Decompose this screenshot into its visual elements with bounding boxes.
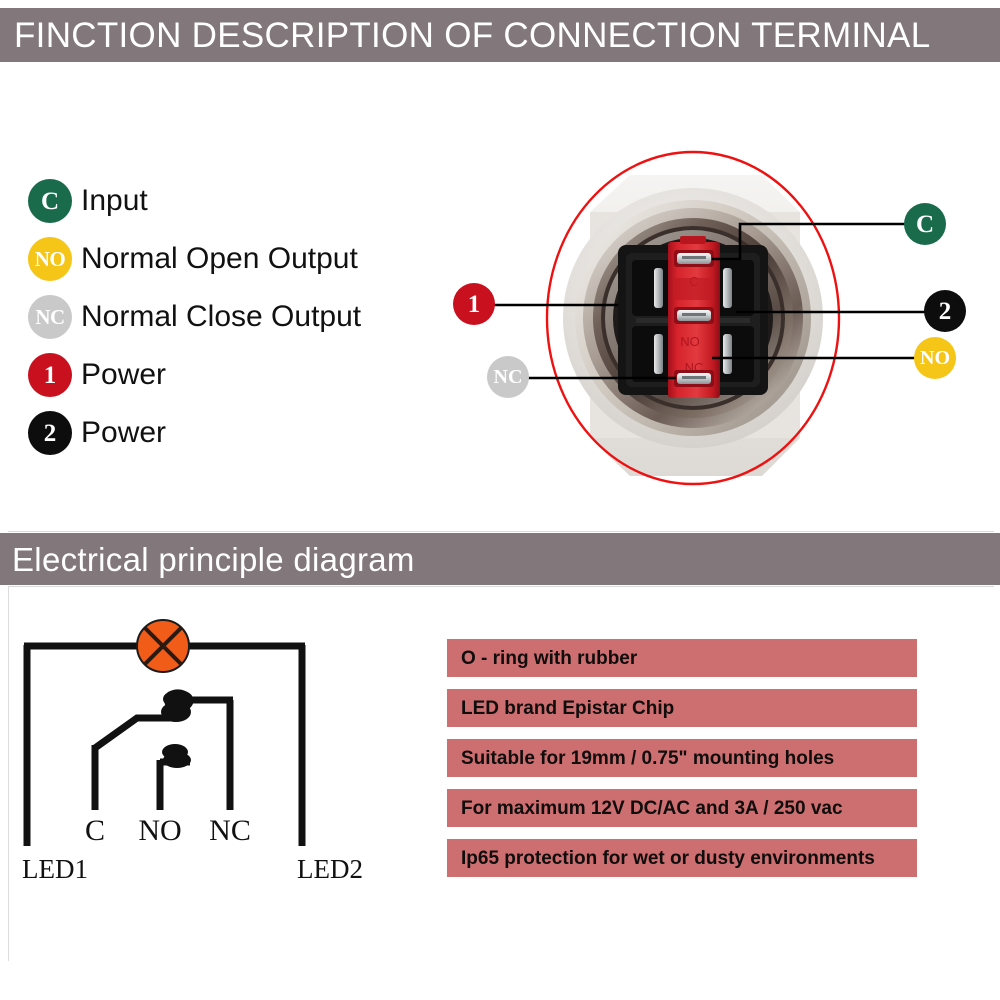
- badge-c-icon: C: [28, 179, 72, 223]
- legend-item-nc: NC Normal Close Output: [28, 288, 428, 346]
- page-header-bar: FINCTION DESCRIPTION OF CONNECTION TERMI…: [0, 8, 1000, 62]
- led-label-2: LED2: [297, 854, 363, 884]
- badge-no-icon: NO: [28, 237, 72, 281]
- legend-label-nc: Normal Close Output: [81, 302, 361, 332]
- feature-text-3: For maximum 12V DC/AC and 3A / 250 vac: [461, 799, 843, 818]
- feature-row-0: O - ring with rubber: [447, 639, 917, 677]
- feature-text-1: LED brand Epistar Chip: [461, 699, 674, 718]
- section-header-bar: Electrical principle diagram: [0, 533, 1000, 585]
- legend-label-2: Power: [81, 418, 166, 448]
- legend-item-2: 2 Power: [28, 404, 428, 462]
- legend-label-1: Power: [81, 360, 166, 390]
- callout-badge-1: 1: [453, 283, 495, 325]
- feature-text-2: Suitable for 19mm / 0.75" mounting holes: [461, 749, 834, 768]
- circuit-schematic: C NO NC LED1 LED2: [0, 600, 430, 900]
- led-label-1: LED1: [22, 854, 88, 884]
- badge-2-icon: 2: [28, 411, 72, 455]
- legend-item-no: NO Normal Open Output: [28, 230, 428, 288]
- callout-badge-2: 2: [924, 290, 966, 332]
- product-photo-with-callouts: C NO NC 1 NC C 2 NO: [440, 150, 1000, 500]
- callout-badge-nc: NC: [487, 356, 529, 398]
- terminal-label-no: NO: [138, 814, 181, 847]
- section-title: Electrical principle diagram: [0, 543, 415, 576]
- section-divider-top: [8, 531, 994, 532]
- switch-rear-view-illustration: C NO NC: [440, 150, 1000, 500]
- badge-nc-icon: NC: [28, 295, 72, 339]
- feature-text-4: Ip65 protection for wet or dusty environ…: [461, 849, 875, 868]
- legend-label-c: Input: [81, 186, 148, 216]
- legend-label-no: Normal Open Output: [81, 244, 358, 274]
- terminal-label-c: C: [85, 814, 105, 847]
- page-title: FINCTION DESCRIPTION OF CONNECTION TERMI…: [0, 18, 930, 53]
- legend-item-1: 1 Power: [28, 346, 428, 404]
- feature-row-3: For maximum 12V DC/AC and 3A / 250 vac: [447, 789, 917, 827]
- svg-text:NO: NO: [680, 334, 700, 349]
- feature-row-2: Suitable for 19mm / 0.75" mounting holes: [447, 739, 917, 777]
- feature-row-4: Ip65 protection for wet or dusty environ…: [447, 839, 917, 877]
- feature-text-0: O - ring with rubber: [461, 649, 637, 668]
- feature-row-1: LED brand Epistar Chip: [447, 689, 917, 727]
- electrical-principle-diagram: C NO NC LED1 LED2: [0, 600, 430, 900]
- callout-badge-c: C: [904, 203, 946, 245]
- badge-1-icon: 1: [28, 353, 72, 397]
- terminal-label-nc: NC: [209, 814, 251, 847]
- callout-badge-no: NO: [914, 337, 956, 379]
- legend-item-c: C Input: [28, 172, 428, 230]
- section-divider-bottom: [8, 586, 994, 587]
- feature-list: O - ring with rubber LED brand Epistar C…: [447, 639, 917, 889]
- terminal-legend: C Input NO Normal Open Output NC Normal …: [28, 172, 428, 462]
